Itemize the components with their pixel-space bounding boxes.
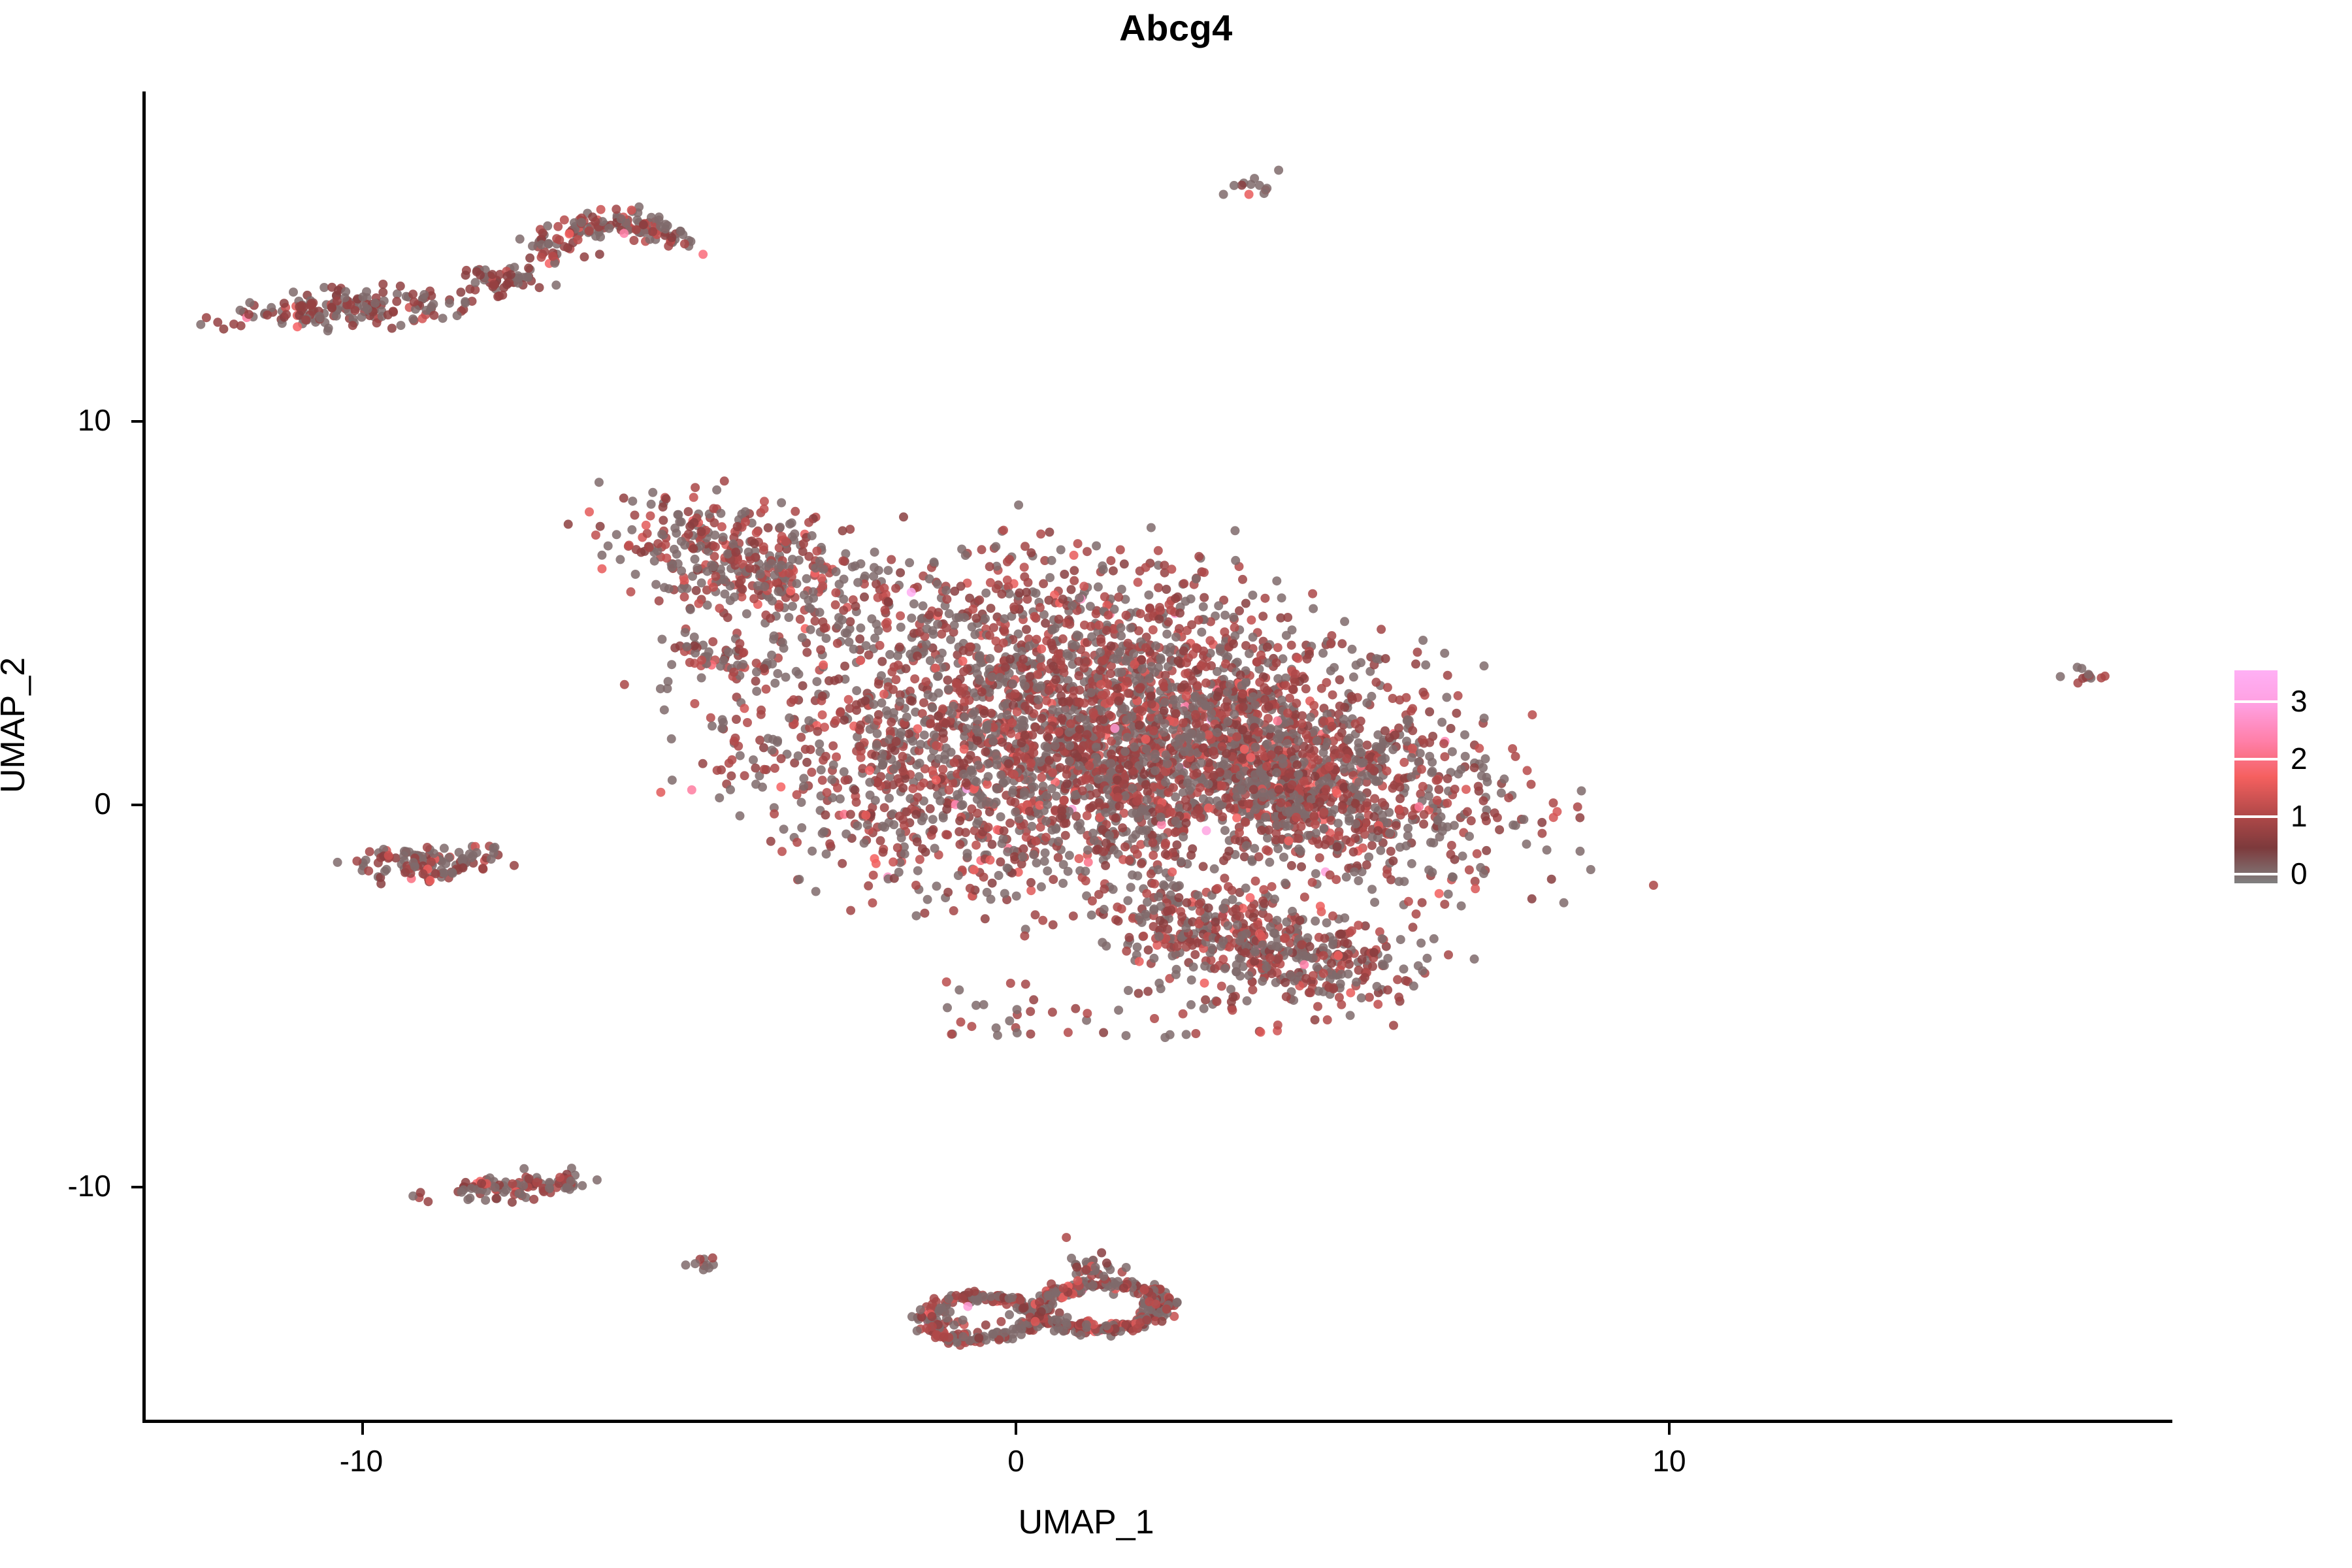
y-axis-line <box>142 91 146 1421</box>
colorbar-label-3: 3 <box>2291 686 2308 716</box>
colorbar-legend: 3 2 1 0 <box>2234 670 2339 892</box>
colorbar-tick-3 <box>2234 700 2278 703</box>
y-tick-mark-0 <box>131 804 142 806</box>
x-tick-label-0: 0 <box>918 1446 1114 1476</box>
x-axis-title: UMAP_1 <box>0 1503 2172 1542</box>
colorbar-tick-1 <box>2234 815 2278 818</box>
y-tick-mark-10 <box>131 420 142 423</box>
x-tick-mark-minus-10 <box>361 1423 364 1435</box>
colorbar-label-0: 0 <box>2291 858 2308 889</box>
y-tick-label-10: 10 <box>0 405 111 435</box>
colorbar-tick-0 <box>2234 873 2278 875</box>
y-tick-mark-minus-10 <box>131 1186 142 1188</box>
plot-panel <box>144 91 2172 1421</box>
x-tick-label-10: 10 <box>1571 1446 1767 1476</box>
page-title: Abcg4 <box>0 7 2352 49</box>
colorbar-label-1: 1 <box>2291 801 2308 831</box>
x-tick-label-minus-10: -10 <box>263 1446 459 1476</box>
y-tick-label-minus-10: -10 <box>0 1171 111 1201</box>
x-tick-mark-0 <box>1015 1423 1017 1435</box>
y-axis-title: UMAP_2 <box>0 464 33 987</box>
x-axis-line <box>142 1420 2172 1423</box>
scatter-points-layer <box>144 91 2172 1421</box>
colorbar-tick-2 <box>2234 758 2278 760</box>
plot-panel-clip <box>144 91 2172 1421</box>
colorbar-label-2: 2 <box>2291 743 2308 774</box>
x-tick-mark-10 <box>1668 1423 1671 1435</box>
umap-feature-plot: Abcg4 10 0 -10 -10 0 10 UMAP_1 UMAP_2 3 … <box>0 0 2352 1568</box>
